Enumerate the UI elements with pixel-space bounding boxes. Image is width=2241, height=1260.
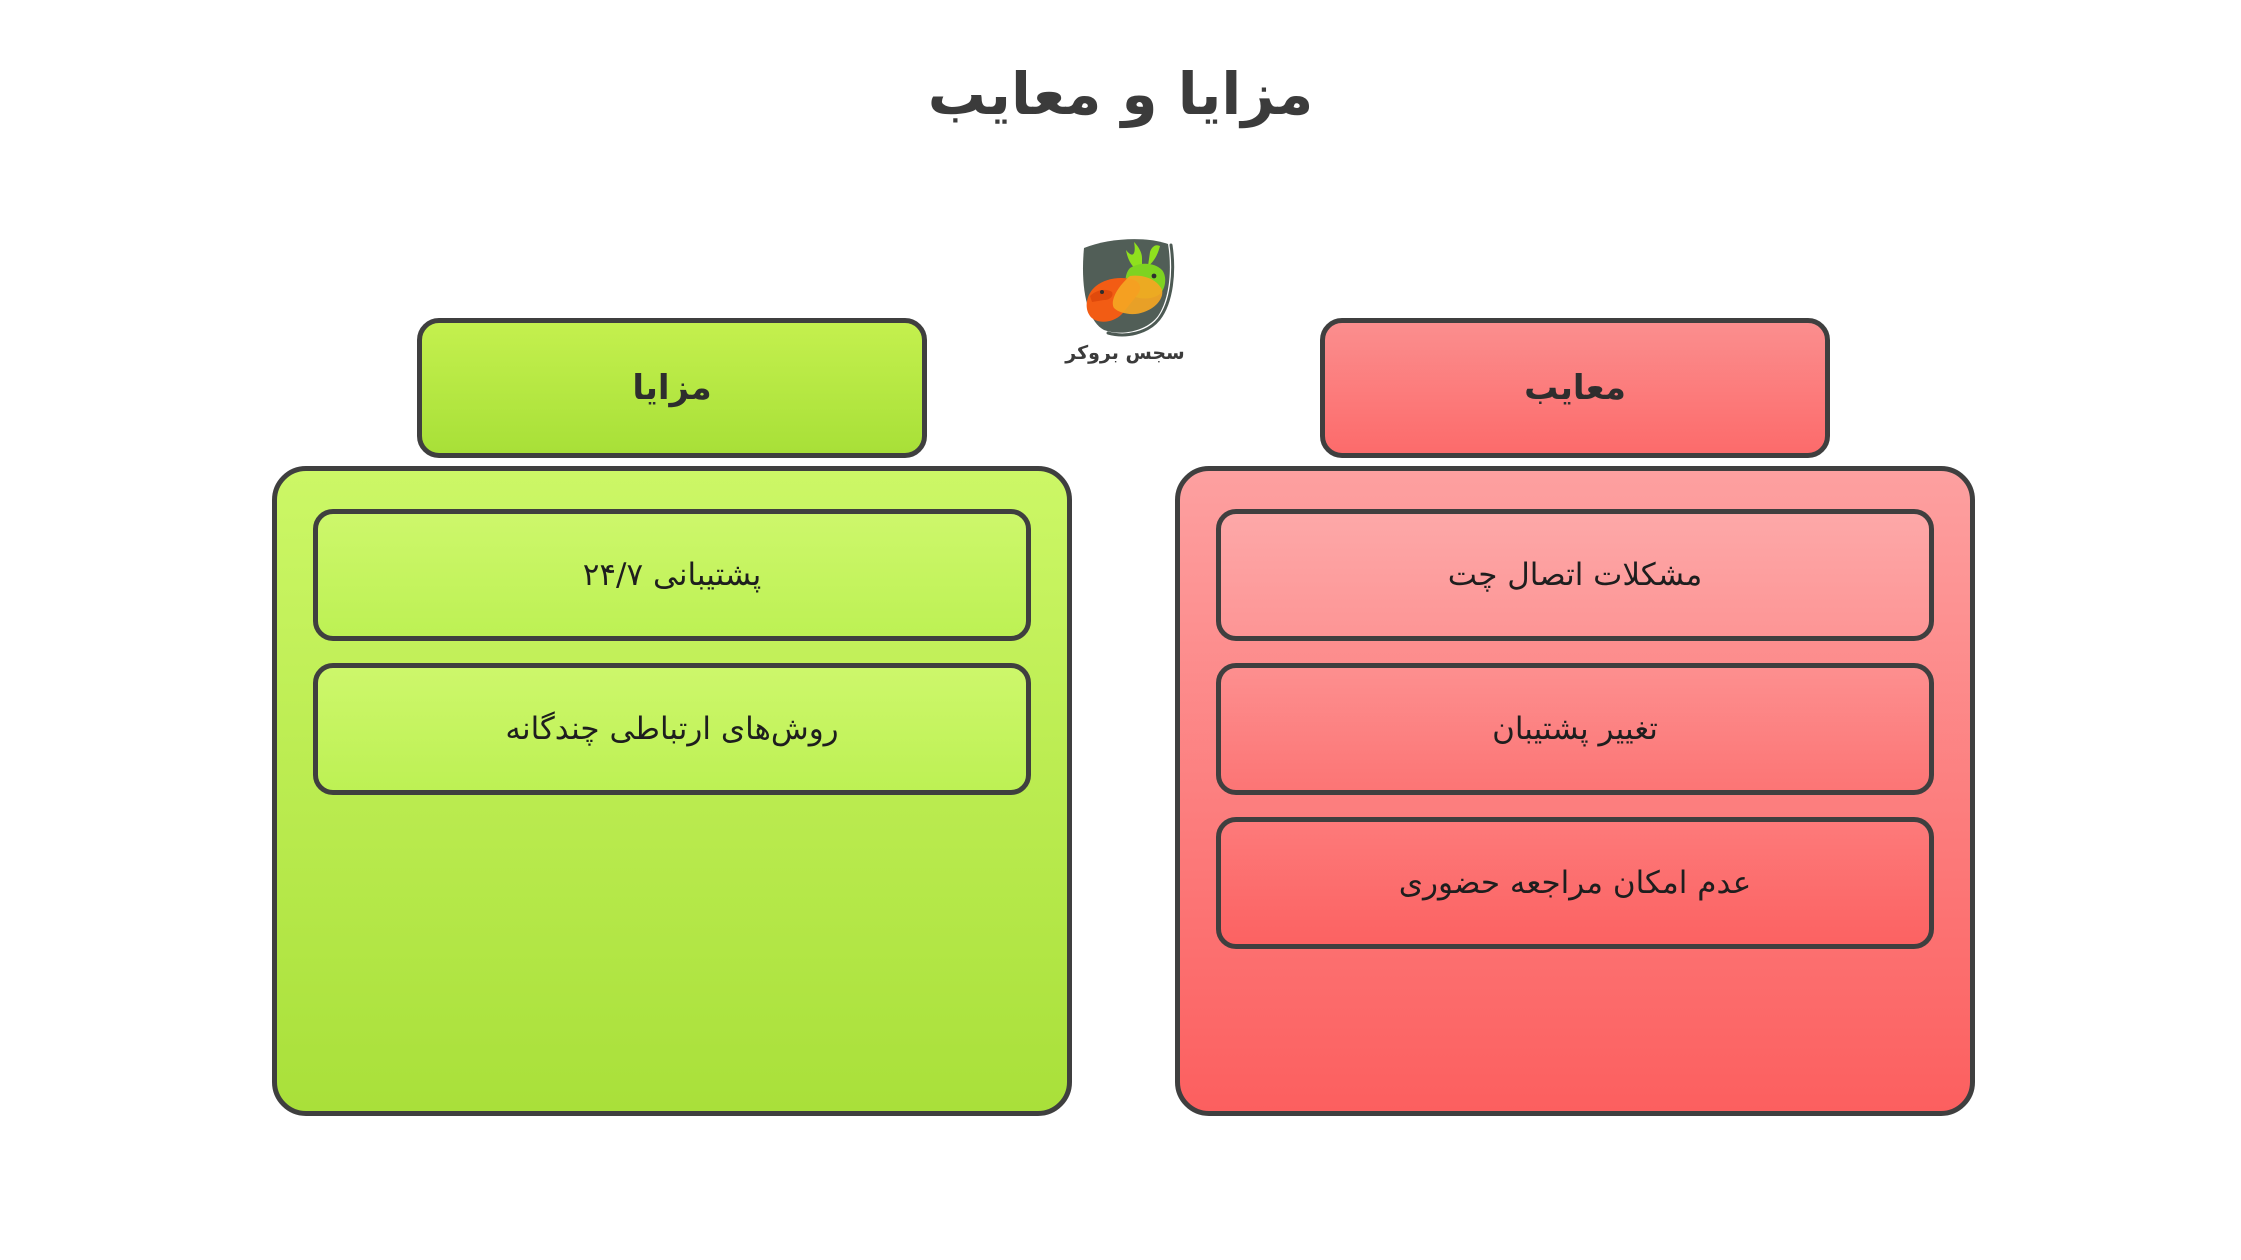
pros-item-1: پشتیبانی ۲۴/۷	[313, 509, 1031, 641]
cons-item-2: تغییر پشتیبان	[1216, 663, 1934, 795]
cons-header: معایب	[1320, 318, 1830, 458]
page-title: مزایا و معایب	[0, 58, 2241, 131]
brand-logo-text: سجس بروکر	[1045, 342, 1205, 364]
pros-body: پشتیبانی ۲۴/۷ روش‌های ارتباطی چندگانه	[272, 466, 1072, 1116]
cons-item-1: مشکلات اتصال چت	[1216, 509, 1934, 641]
pros-item-2: روش‌های ارتباطی چندگانه	[313, 663, 1031, 795]
infographic-page: مزایا و معایب سجس بروکر مزایا پشتیبانی ۲…	[0, 0, 2241, 1260]
cons-body: مشکلات اتصال چت تغییر پشتیبان عدم امکان …	[1175, 466, 1975, 1116]
bull-bear-shield-icon	[1068, 232, 1183, 340]
pros-header: مزایا	[417, 318, 927, 458]
cons-item-3: عدم امکان مراجعه حضوری	[1216, 817, 1934, 949]
brand-logo: سجس بروکر	[1045, 232, 1205, 382]
